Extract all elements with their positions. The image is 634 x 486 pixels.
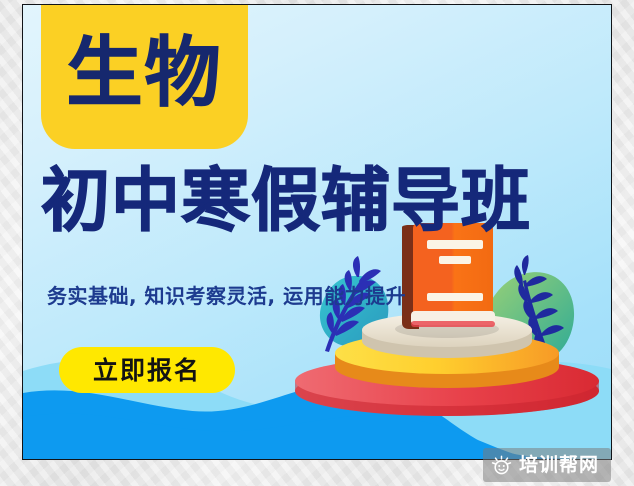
book-podium-illustration bbox=[287, 215, 607, 425]
signup-button[interactable]: 立即报名 bbox=[59, 347, 235, 393]
signup-button-label: 立即报名 bbox=[93, 358, 201, 383]
page-title: 初中寒假辅导班 bbox=[41, 165, 601, 237]
promo-banner: 生物 初中寒假辅导班 务实基础, 知识考察灵活, 运用能力提升 立即报名 bbox=[22, 4, 612, 460]
subject-badge-label: 生物 bbox=[67, 35, 223, 117]
watermark: 培训帮网 bbox=[483, 448, 611, 482]
page-background: 生物 初中寒假辅导班 务实基础, 知识考察灵活, 运用能力提升 立即报名 bbox=[0, 0, 634, 486]
watermark-text: 培训帮网 bbox=[519, 456, 599, 475]
subject-badge: 生物 bbox=[41, 4, 248, 149]
sun-face-icon bbox=[491, 455, 512, 476]
subtitle-text: 务实基础, 知识考察灵活, 运用能力提升 bbox=[47, 280, 406, 309]
